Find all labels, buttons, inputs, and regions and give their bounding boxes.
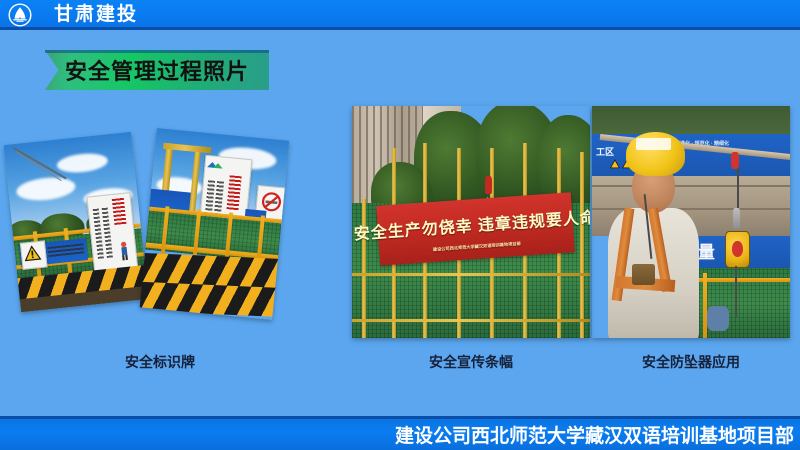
photo-scene-a	[4, 132, 149, 312]
deck-seam	[592, 208, 790, 210]
photo-safety-sign-board-b	[140, 128, 290, 320]
scaffold-pole	[580, 152, 584, 338]
worker-illustration-icon	[116, 237, 133, 265]
arrester-dial	[732, 241, 742, 256]
footer-project-title: 建设公司西北师范大学藏汉双语培训基地项目部	[395, 419, 794, 450]
arrester-anchor-hook	[731, 152, 739, 168]
harness-buckle	[632, 264, 656, 285]
scaffold-ledger	[352, 273, 590, 276]
slide-canvas: 甘肃建投 安全管理过程照片	[0, 0, 800, 450]
helmet-label	[636, 138, 672, 150]
photo-safety-promotion-banner: 安全生产勿侥幸 违章违规要人命 建设公司西北师范大学藏汉双语培训基地项目部	[352, 106, 590, 338]
photo-fall-arrester-application: 工区 标准化 · 规范化 · 精细化 质量	[592, 106, 790, 338]
photo-scene-worker: 工区 标准化 · 规范化 · 精细化 质量	[592, 106, 790, 338]
photo-caption-safety-sign-board: 安全标识牌	[60, 352, 260, 372]
worker-glove	[707, 306, 729, 332]
deck-seam	[592, 185, 790, 187]
scaffold-ledger	[352, 319, 590, 322]
header-bar: 甘肃建投	[0, 0, 800, 30]
arrester-lifeline	[735, 266, 737, 317]
gansu-construction-emblem-icon	[8, 3, 32, 27]
photo-caption-safety-promotion-banner: 安全宣传条幅	[371, 352, 571, 372]
photo-scene-b	[140, 128, 290, 320]
company-logo-icon	[206, 158, 228, 173]
page-title: 安全管理过程照片	[45, 50, 269, 90]
warning-triangle-icon	[23, 244, 41, 262]
photo-scene-banner: 安全生产勿侥幸 违章违规要人命 建设公司西北师范大学藏汉双语培训基地项目部	[352, 106, 590, 338]
photo-caption-fall-arrester: 安全防坠器应用	[594, 352, 788, 372]
hazard-stripe-band	[140, 282, 290, 318]
section-title-banner: 安全管理过程照片	[45, 50, 269, 90]
fall-arrester-device	[725, 231, 751, 268]
photo-safety-sign-board-a	[4, 132, 149, 312]
fence-post	[703, 273, 707, 338]
brand-title: 甘肃建投	[54, 2, 138, 28]
warning-triangle-icon	[610, 157, 620, 171]
arrester-connector	[733, 208, 741, 229]
footer-bar: 建设公司西北师范大学藏汉双语培训基地项目部	[0, 416, 800, 450]
fire-extinguisher	[485, 176, 492, 195]
